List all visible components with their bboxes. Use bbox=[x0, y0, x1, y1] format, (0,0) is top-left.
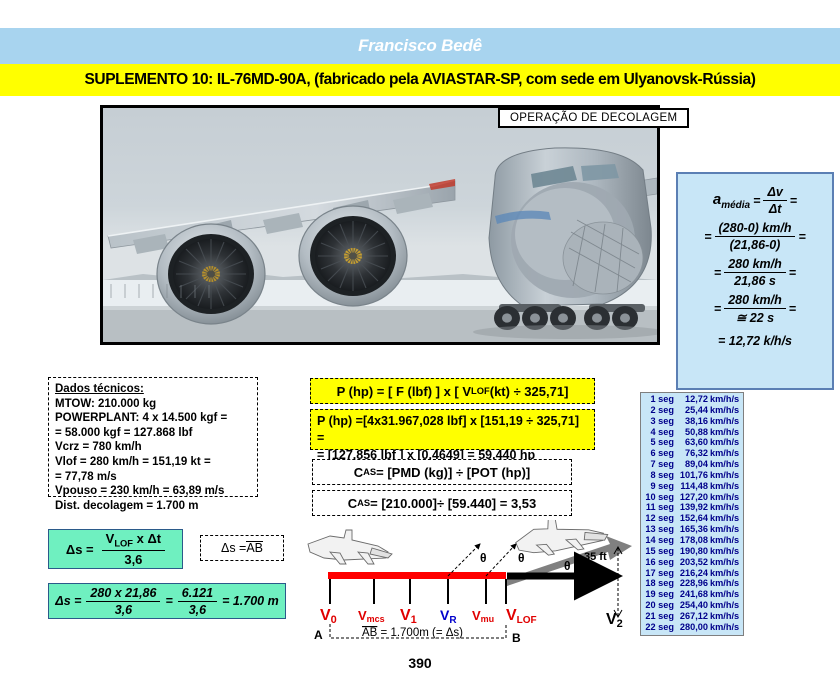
table-row: 18 seg228,96km/h/s bbox=[643, 578, 741, 589]
delta-s-numerator: VLOF x Δt bbox=[102, 531, 166, 551]
speed-row-time: 5 seg bbox=[643, 437, 675, 448]
acceleration-speed-table: 1 seg12,72km/h/s2 seg25,44km/h/s3 seg38,… bbox=[640, 392, 744, 636]
tech-data-line: MTOW: 210.000 kg bbox=[55, 397, 251, 412]
tech-data-line: Vcrz = 780 km/h bbox=[55, 440, 251, 455]
ab-distance-text: AB = 1.700m (= Δs) bbox=[362, 627, 463, 639]
speed-label-vmcs: Vmcs bbox=[358, 608, 385, 624]
page-title: SUPLEMENTO 10: IL-76MD-90A, (fabricado p… bbox=[84, 71, 755, 89]
speed-row-unit: km/h/s bbox=[709, 557, 741, 568]
speed-row-unit: km/h/s bbox=[709, 524, 741, 535]
supplement-title-banner: SUPLEMENTO 10: IL-76MD-90A, (fabricado p… bbox=[0, 64, 840, 96]
table-row: 12 seg152,64km/h/s bbox=[643, 513, 741, 524]
theta-ray-1 bbox=[448, 544, 480, 576]
speed-row-time: 9 seg bbox=[643, 481, 675, 492]
speed-row-time: 17 seg bbox=[643, 568, 675, 579]
speed-row-time: 22 seg bbox=[643, 622, 675, 633]
cas-formula-box: CAS = [PMD (kg)] ÷ [POT (hp)] bbox=[312, 459, 572, 485]
table-row: 16 seg203,52km/h/s bbox=[643, 557, 741, 568]
speed-row-time: 15 seg bbox=[643, 546, 675, 557]
speed-row-value: 228,96 bbox=[675, 578, 709, 589]
equals-sign-6: = bbox=[789, 266, 796, 280]
speed-row-time: 18 seg bbox=[643, 578, 675, 589]
delta-s-calc-lhs: Δs = bbox=[55, 594, 81, 608]
theta-label-3: θ bbox=[564, 559, 571, 573]
power-formula-rhs: (kt) ÷ 325,71] bbox=[490, 384, 569, 399]
takeoff-diagram-svg: θ θ θ 35 ft A B AB = 1.700m (= Δs) V0 V bbox=[300, 520, 645, 650]
speed-row-value: 50,88 bbox=[675, 427, 709, 438]
speed-row-value: 114,48 bbox=[675, 481, 709, 492]
equals-sign-8: = bbox=[789, 302, 796, 316]
speed-row-time: 12 seg bbox=[643, 513, 675, 524]
speed-row-value: 12,72 bbox=[675, 394, 709, 405]
speed-row-unit: km/h/s bbox=[709, 600, 741, 611]
delta-s-calc-fraction-1: 280 x 21,86 3,6 bbox=[86, 586, 160, 617]
speed-row-value: 267,12 bbox=[675, 611, 709, 622]
equals-sign-3: = bbox=[704, 230, 711, 244]
speed-row-time: 6 seg bbox=[643, 448, 675, 459]
speed-row-value: 101,76 bbox=[675, 470, 709, 481]
speed-row-unit: km/h/s bbox=[709, 416, 741, 427]
speed-label-vlof: VLOF bbox=[506, 607, 537, 626]
power-formula-box: P (hp) = [ F (lbf) ] x [ VLOF (kt) ÷ 325… bbox=[310, 378, 595, 404]
tech-data-line: Dist. decolagem = 1.700 m bbox=[55, 499, 251, 514]
power-formula-sub: LOF bbox=[471, 386, 490, 396]
power-calc-line-1: P (hp) =[4x31.967,028 lbf] x [151,19 ÷ 3… bbox=[317, 413, 588, 447]
cas-symbol-sub: AS bbox=[363, 467, 376, 477]
equals-sign-2: = bbox=[790, 194, 797, 208]
speed-row-value: 190,80 bbox=[675, 546, 709, 557]
ground-roll-bar bbox=[328, 572, 506, 579]
tech-data-line: Vpouso = 230 km/h = 63,89 m/s bbox=[55, 484, 251, 499]
technical-data-box: Dados técnicos: MTOW: 210.000 kg POWERPL… bbox=[48, 377, 258, 497]
speed-row-value: 280,00 bbox=[675, 622, 709, 633]
speed-row-value: 139,92 bbox=[675, 502, 709, 513]
speed-row-time: 13 seg bbox=[643, 524, 675, 535]
page-number: 390 bbox=[0, 655, 840, 671]
tech-data-title: Dados técnicos: bbox=[55, 382, 251, 397]
speed-row-unit: km/h/s bbox=[709, 470, 741, 481]
table-row: 8 seg101,76km/h/s bbox=[643, 470, 741, 481]
delta-s-calculation-box: Δs = 280 x 21,86 3,6 = 6.121 3,6 = 1.700… bbox=[48, 583, 286, 619]
photo-caption: OPERAÇÃO DE DECOLAGEM bbox=[498, 108, 689, 128]
table-row: 1 seg12,72km/h/s bbox=[643, 394, 741, 405]
delta-s-fraction: VLOF x Δt 3,6 bbox=[102, 531, 166, 567]
speed-row-time: 11 seg bbox=[643, 502, 675, 513]
cas-calc-rhs: = [210.000]÷ [59.440] = 3,53 bbox=[370, 496, 536, 511]
table-row: 21 seg267,12km/h/s bbox=[643, 611, 741, 622]
table-row: 4 seg50,88km/h/s bbox=[643, 427, 741, 438]
accel-result: = 12,72 k/h/s bbox=[718, 334, 792, 348]
aircraft-photo bbox=[100, 105, 660, 345]
tech-data-line: POWERPLANT: 4 x 14.500 kgf = bbox=[55, 411, 251, 426]
delta-s-calc-equals: = bbox=[165, 594, 172, 608]
speed-row-time: 21 seg bbox=[643, 611, 675, 622]
theta-label-2: θ bbox=[518, 551, 525, 565]
table-row: 15 seg190,80km/h/s bbox=[643, 546, 741, 557]
equals-sign-4: = bbox=[798, 230, 805, 244]
equals-sign-1: = bbox=[753, 194, 760, 208]
speed-row-unit: km/h/s bbox=[709, 568, 741, 579]
delta-s-ab-lhs: Δs = bbox=[221, 541, 246, 555]
speed-row-value: 89,04 bbox=[675, 459, 709, 470]
speed-row-value: 254,40 bbox=[675, 600, 709, 611]
speed-row-unit: km/h/s bbox=[709, 502, 741, 513]
speed-row-time: 2 seg bbox=[643, 405, 675, 416]
speed-tick-marks bbox=[330, 579, 506, 604]
speed-row-value: 178,08 bbox=[675, 535, 709, 546]
speed-row-time: 7 seg bbox=[643, 459, 675, 470]
tech-data-line: = 77,78 m/s bbox=[55, 470, 251, 485]
delta-s-calc-fraction-2: 6.121 3,6 bbox=[178, 586, 217, 617]
equals-sign-7: = bbox=[714, 302, 721, 316]
table-row: 20 seg254,40km/h/s bbox=[643, 600, 741, 611]
table-row: 10 seg127,20km/h/s bbox=[643, 492, 741, 503]
speed-row-value: 127,20 bbox=[675, 492, 709, 503]
speed-row-value: 165,36 bbox=[675, 524, 709, 535]
theta-ray-2 bbox=[486, 544, 516, 576]
accel-step-3: 280 km/h ≅ 22 s bbox=[724, 293, 786, 325]
segment-ab-label: AB bbox=[246, 541, 263, 555]
speed-row-unit: km/h/s bbox=[709, 394, 741, 405]
cas-calc-symbol: C bbox=[348, 496, 357, 511]
accel-step-2: 280 km/h 21,86 s bbox=[724, 257, 786, 288]
table-row: 2 seg25,44km/h/s bbox=[643, 405, 741, 416]
speed-row-value: 76,32 bbox=[675, 448, 709, 459]
tech-data-line: Vlof = 280 km/h = 151,19 kt = bbox=[55, 455, 251, 470]
speed-row-time: 19 seg bbox=[643, 589, 675, 600]
cas-calculation-box: CAS = [210.000]÷ [59.440] = 3,53 bbox=[312, 490, 572, 516]
speed-row-time: 10 seg bbox=[643, 492, 675, 503]
speed-label-vr: VR bbox=[440, 607, 457, 626]
screen-height-label: 35 ft bbox=[584, 551, 607, 563]
cas-formula-rhs: = [PMD (kg)] ÷ [POT (hp)] bbox=[376, 465, 530, 480]
table-row: 13 seg165,36km/h/s bbox=[643, 524, 741, 535]
average-acceleration-formula: amédia = Δv Δt = = (280-0) km/h (21,86-0… bbox=[676, 172, 834, 390]
speed-label-v1: V1 bbox=[400, 607, 417, 626]
speed-row-value: 216,24 bbox=[675, 568, 709, 579]
table-row: 7 seg89,04km/h/s bbox=[643, 459, 741, 470]
delta-s-formula-box: Δs = VLOF x Δt 3,6 bbox=[48, 529, 183, 569]
speed-row-unit: km/h/s bbox=[709, 589, 741, 600]
equals-sign-5: = bbox=[714, 266, 721, 280]
aircraft-photo-illustration bbox=[103, 108, 657, 342]
speed-table-grid: 1 seg12,72km/h/s2 seg25,44km/h/s3 seg38,… bbox=[643, 394, 741, 633]
table-row: 6 seg76,32km/h/s bbox=[643, 448, 741, 459]
speed-row-value: 25,44 bbox=[675, 405, 709, 416]
speed-row-unit: km/h/s bbox=[709, 546, 741, 557]
speed-row-time: 20 seg bbox=[643, 600, 675, 611]
speed-row-value: 203,52 bbox=[675, 557, 709, 568]
table-row: 22 seg280,00km/h/s bbox=[643, 622, 741, 633]
speed-row-value: 38,16 bbox=[675, 416, 709, 427]
cas-symbol: C bbox=[354, 465, 363, 480]
speed-row-time: 14 seg bbox=[643, 535, 675, 546]
cas-calc-sub: AS bbox=[357, 498, 370, 508]
accel-symbol: amédia bbox=[713, 191, 750, 211]
speed-row-unit: km/h/s bbox=[709, 611, 741, 622]
author-name: Francisco Bedê bbox=[358, 36, 482, 56]
table-row: 9 seg114,48km/h/s bbox=[643, 481, 741, 492]
table-row: 3 seg38,16km/h/s bbox=[643, 416, 741, 427]
delta-s-calc-result: = 1.700 m bbox=[222, 594, 279, 608]
speed-label-v0: V0 bbox=[320, 607, 337, 626]
power-formula-lhs: P (hp) = [ F (lbf) ] x [ V bbox=[337, 384, 471, 399]
speed-row-unit: km/h/s bbox=[709, 427, 741, 438]
speed-row-unit: km/h/s bbox=[709, 578, 741, 589]
speed-row-unit: km/h/s bbox=[709, 622, 741, 633]
table-row: 14 seg178,08km/h/s bbox=[643, 535, 741, 546]
takeoff-speed-diagram: θ θ θ 35 ft A B AB = 1.700m (= Δs) V0 V bbox=[300, 520, 645, 650]
speed-row-time: 16 seg bbox=[643, 557, 675, 568]
speed-row-unit: km/h/s bbox=[709, 459, 741, 470]
speed-label-vmu: Vmu bbox=[472, 608, 494, 624]
power-calculation-box: P (hp) =[4x31.967,028 lbf] x [151,19 ÷ 3… bbox=[310, 409, 595, 450]
speed-row-time: 4 seg bbox=[643, 427, 675, 438]
speed-row-unit: km/h/s bbox=[709, 481, 741, 492]
point-b-label: B bbox=[512, 631, 521, 645]
delta-s-equals-ab-box: Δs = AB bbox=[200, 535, 284, 561]
author-banner: Francisco Bedê bbox=[0, 28, 840, 64]
speed-row-time: 1 seg bbox=[643, 394, 675, 405]
delta-s-lhs: Δs = bbox=[66, 542, 94, 557]
speed-row-value: 63,60 bbox=[675, 437, 709, 448]
speed-row-unit: km/h/s bbox=[709, 535, 741, 546]
table-row: 5 seg63,60km/h/s bbox=[643, 437, 741, 448]
point-a-label: A bbox=[314, 628, 323, 642]
accel-step-1: (280-0) km/h (21,86-0) bbox=[715, 221, 796, 252]
table-row: 19 seg241,68km/h/s bbox=[643, 589, 741, 600]
speed-row-time: 3 seg bbox=[643, 416, 675, 427]
delta-v-over-delta-t: Δv Δt bbox=[763, 185, 786, 216]
table-row: 11 seg139,92km/h/s bbox=[643, 502, 741, 513]
aircraft-silhouette-start bbox=[308, 530, 392, 564]
speed-row-value: 152,64 bbox=[675, 513, 709, 524]
theta-label-1: θ bbox=[480, 551, 487, 565]
speed-row-unit: km/h/s bbox=[709, 437, 741, 448]
speed-row-unit: km/h/s bbox=[709, 448, 741, 459]
delta-s-denominator: 3,6 bbox=[102, 551, 166, 567]
speed-row-time: 8 seg bbox=[643, 470, 675, 481]
speed-row-value: 241,68 bbox=[675, 589, 709, 600]
speed-row-unit: km/h/s bbox=[709, 405, 741, 416]
tech-data-line: = 58.000 kgf = 127.868 lbf bbox=[55, 426, 251, 441]
speed-row-unit: km/h/s bbox=[709, 492, 741, 503]
table-row: 17 seg216,24km/h/s bbox=[643, 568, 741, 579]
speed-row-unit: km/h/s bbox=[709, 513, 741, 524]
